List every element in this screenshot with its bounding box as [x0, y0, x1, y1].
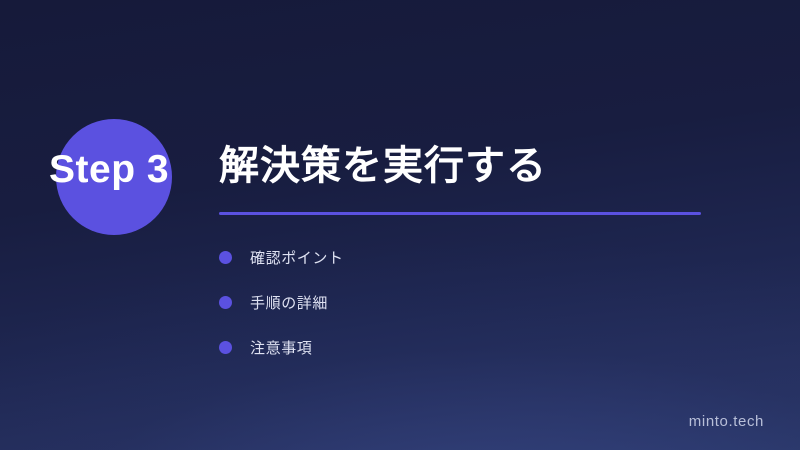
bullet-list: 確認ポイント 手順の詳細 注意事項 — [219, 235, 344, 370]
bullet-label: 注意事項 — [250, 337, 312, 358]
footer-watermark: minto.tech — [689, 413, 764, 430]
list-item: 注意事項 — [219, 325, 344, 370]
step-badge-label: Step 3 — [49, 150, 169, 189]
title-divider — [219, 212, 701, 215]
slide-title: 解決策を実行する — [219, 143, 547, 189]
presentation-slide: Step 3 解決策を実行する 確認ポイント 手順の詳細 注意事項 minto.… — [0, 0, 800, 450]
bullet-label: 確認ポイント — [250, 247, 344, 268]
list-item: 確認ポイント — [219, 235, 344, 280]
slide-content: Step 3 解決策を実行する 確認ポイント 手順の詳細 注意事項 minto.… — [0, 0, 800, 450]
bullet-dot-icon — [219, 296, 232, 309]
bullet-dot-icon — [219, 341, 232, 354]
bullet-dot-icon — [219, 251, 232, 264]
list-item: 手順の詳細 — [219, 280, 344, 325]
bullet-label: 手順の詳細 — [250, 292, 328, 313]
